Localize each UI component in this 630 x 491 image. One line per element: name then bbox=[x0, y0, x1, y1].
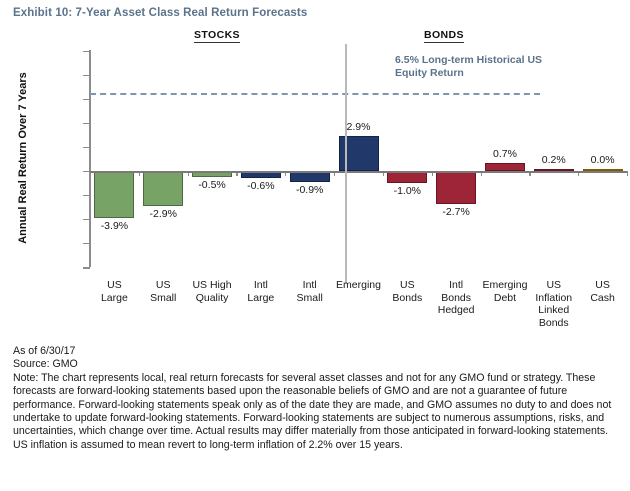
bar-value-label: -2.9% bbox=[133, 208, 193, 220]
chart-area: STOCKS BONDS Annual Real Return Over 7 Y… bbox=[0, 26, 630, 346]
y-axis-tick-mark bbox=[83, 171, 90, 172]
category-label-line: Bonds bbox=[524, 317, 584, 330]
category-label-line: Hedged bbox=[426, 304, 486, 317]
bar-value-label: 0.0% bbox=[573, 154, 630, 166]
reference-line bbox=[90, 93, 540, 95]
group-header-bonds: BONDS bbox=[424, 29, 464, 43]
chart-page: Exhibit 10: 7-Year Asset Class Real Retu… bbox=[0, 0, 630, 491]
x-axis-category-label: USCash bbox=[573, 279, 630, 304]
reference-line-label: 6.5% Long-term Historical US Equity Retu… bbox=[395, 54, 620, 80]
y-axis-tick-mark bbox=[83, 267, 90, 268]
reference-label-line2: Equity Return bbox=[395, 67, 620, 80]
y-axis-line bbox=[89, 50, 91, 267]
category-label-line: Small bbox=[280, 292, 340, 305]
bar[interactable] bbox=[485, 163, 525, 171]
y-axis-tick-mark bbox=[83, 243, 90, 244]
bar-value-label: -0.9% bbox=[280, 184, 340, 196]
y-axis-tick-mark bbox=[83, 147, 90, 148]
footnote-asof: As of 6/30/17 bbox=[13, 345, 621, 358]
y-axis-tick-mark bbox=[83, 75, 90, 76]
reference-label-line1: 6.5% Long-term Historical US bbox=[395, 54, 620, 67]
group-header-stocks: STOCKS bbox=[194, 29, 240, 43]
bar[interactable] bbox=[290, 171, 330, 182]
footnote-source: Source: GMO bbox=[13, 358, 621, 371]
y-axis-tick-mark bbox=[83, 51, 90, 52]
category-label-line: Linked bbox=[524, 304, 584, 317]
bar-value-label: -3.9% bbox=[84, 220, 144, 232]
category-label-line: US bbox=[573, 279, 630, 292]
category-label-line: Cash bbox=[573, 292, 630, 305]
y-axis-title: Annual Real Return Over 7 Years bbox=[17, 58, 29, 258]
bar[interactable] bbox=[387, 171, 427, 183]
bar[interactable] bbox=[436, 171, 476, 204]
bar-value-label: -2.7% bbox=[426, 206, 486, 218]
page-title: Exhibit 10: 7-Year Asset Class Real Retu… bbox=[13, 7, 307, 19]
y-axis-tick-mark bbox=[83, 123, 90, 124]
bar-value-label: -1.0% bbox=[377, 185, 437, 197]
footnote-note: Note: The chart represents local, real r… bbox=[13, 372, 621, 452]
y-axis-tick-mark bbox=[83, 195, 90, 196]
footnote-block: As of 6/30/17 Source: GMO Note: The char… bbox=[13, 345, 621, 452]
y-axis-tick-mark bbox=[83, 99, 90, 100]
bar-value-label: 2.9% bbox=[329, 121, 389, 133]
bar[interactable] bbox=[143, 171, 183, 206]
zero-line bbox=[90, 171, 627, 173]
x-axis-tick-mark bbox=[627, 171, 628, 176]
bar[interactable] bbox=[94, 171, 134, 218]
stocks-bonds-divider bbox=[345, 44, 347, 284]
